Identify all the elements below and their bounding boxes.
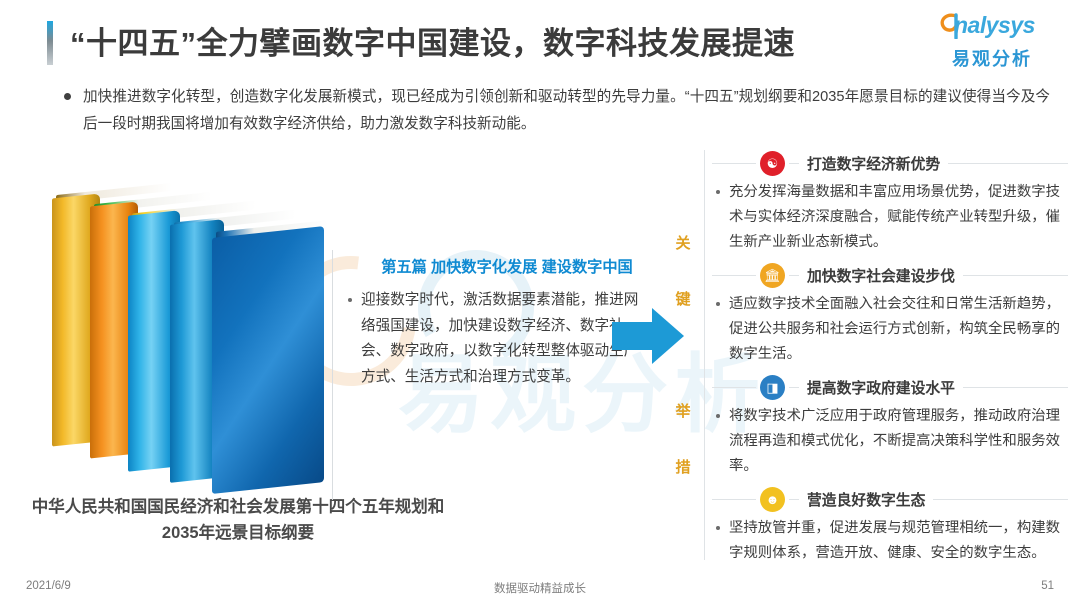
section-rule-mid	[789, 387, 799, 388]
person-icon: ☻	[760, 487, 785, 512]
slide-root: 易观分析 “十四五”全力擘画数字中国建设，数字科技发展提速 nalysys 易观…	[0, 0, 1080, 608]
bullet-dot-icon	[64, 93, 71, 100]
section-header: ☻ 营造良好数字生态	[712, 484, 1068, 514]
section-rule-mid	[789, 499, 799, 500]
section-text: 坚持放管并重，促进发展与规范管理相统一，构建数字规则体系，营造开放、健康、安全的…	[729, 516, 1068, 566]
section-title: 提高数字政府建设水平	[807, 377, 955, 398]
measure-section-3: ◨ 提高数字政府建设水平 将数字技术广泛应用于政府管理服务，推动政府治理流程再造…	[712, 372, 1068, 479]
logo-chinese-name: 易观分析	[938, 45, 1056, 71]
section-text: 充分发挥海量数据和丰富应用场景优势，促进数字技术与实体经济深度融合，赋能传统产业…	[729, 180, 1068, 255]
section-body: 坚持放管并重，促进发展与规范管理相统一，构建数字规则体系，营造开放、健康、安全的…	[712, 516, 1068, 566]
section-rule-right	[948, 163, 1068, 164]
section-rule-right	[933, 499, 1068, 500]
books-caption: 中华人民共和国国民经济和社会发展第十四个五年规划和2035年远景目标纲要	[28, 494, 448, 546]
section-header: 🏛 加快数字社会建设步伐	[712, 260, 1068, 290]
key-measures-list: ☯ 打造数字经济新优势 充分发挥海量数据和丰富应用场景优势，促进数字技术与实体经…	[712, 148, 1068, 571]
section-rule-right	[963, 275, 1068, 276]
section-rule-left	[712, 163, 756, 164]
shield-icon: ◨	[760, 375, 785, 400]
section-rule-left	[712, 387, 756, 388]
section-body: 适应数字技术全面融入社会交往和日常生活新趋势，促进公共服务和社会运行方式创新，构…	[712, 292, 1068, 367]
page-title: “十四五”全力擘画数字中国建设，数字科技发展提速	[70, 18, 795, 63]
section-rule-left	[712, 499, 756, 500]
arrow-shaft	[612, 322, 656, 350]
bank-icon: 🏛	[760, 263, 785, 288]
intro-paragraph: 加快推进数字化转型，创造数字化发展新模式，现已经成为引领创新和驱动转型的先导力量…	[64, 84, 1050, 138]
measure-section-1: ☯ 打造数字经济新优势 充分发挥海量数据和丰富应用场景优势，促进数字技术与实体经…	[712, 148, 1068, 255]
books-illustration	[36, 168, 302, 498]
footer-slogan: 数据驱动精益成长	[0, 580, 1080, 596]
globe-icon: ☯	[760, 151, 785, 176]
vlabel-char-3: 举	[670, 384, 696, 440]
logo-wordmark: nalysys	[954, 12, 1035, 39]
bullet-dot-icon	[716, 190, 720, 194]
bullet-dot-icon	[716, 414, 720, 418]
section-rule-mid	[789, 163, 799, 164]
section-text: 将数字技术广泛应用于政府管理服务，推动政府治理流程再造和模式优化，不断提高决策科…	[729, 404, 1068, 479]
bullet-dot-icon	[716, 526, 720, 530]
right-divider	[704, 150, 705, 560]
vlabel-char-2: 键	[670, 272, 696, 328]
section-rule-right	[963, 387, 1068, 388]
section-rule-mid	[789, 275, 799, 276]
section-body: 将数字技术广泛应用于政府管理服务，推动政府治理流程再造和模式优化，不断提高决策科…	[712, 404, 1068, 479]
middle-divider	[332, 250, 333, 500]
vlabel-char-1: 关	[670, 216, 696, 272]
bullet-dot-icon	[348, 298, 352, 302]
intro-text: 加快推进数字化转型，创造数字化发展新模式，现已经成为引领创新和驱动转型的先导力量…	[83, 84, 1050, 138]
slide-footer: 2021/6/9 数据驱动精益成长 51	[0, 580, 1080, 608]
section-title: 打造数字经济新优势	[807, 153, 940, 174]
analysys-logo: nalysys 易观分析	[938, 13, 1056, 65]
measure-section-2: 🏛 加快数字社会建设步伐 适应数字技术全面融入社会交往和日常生活新趋势，促进公共…	[712, 260, 1068, 367]
section-rule-left	[712, 275, 756, 276]
section-title: 营造良好数字生态	[807, 489, 925, 510]
middle-text: 迎接数字时代，激活数据要素潜能，推进网络强国建设，加快建设数字经济、数字社会、数…	[361, 288, 648, 390]
section-header: ☯ 打造数字经济新优势	[712, 148, 1068, 178]
middle-title: 第五篇 加快数字化发展 建设数字中国	[352, 255, 662, 277]
middle-paragraph: 迎接数字时代，激活数据要素潜能，推进网络强国建设，加快建设数字经济、数字社会、数…	[348, 288, 648, 390]
vlabel-char-4: 措	[670, 440, 696, 496]
section-body: 充分发挥海量数据和丰富应用场景优势，促进数字技术与实体经济深度融合，赋能传统产业…	[712, 180, 1068, 255]
vertical-label-key-measures: 关 键 举 措	[670, 216, 696, 496]
book-5	[212, 226, 324, 494]
logo-wordmark-row: nalysys	[938, 13, 1056, 41]
title-accent-bar	[47, 21, 53, 65]
measure-section-4: ☻ 营造良好数字生态 坚持放管并重，促进发展与规范管理相统一，构建数字规则体系，…	[712, 484, 1068, 566]
section-text: 适应数字技术全面融入社会交往和日常生活新趋势，促进公共服务和社会运行方式创新，构…	[729, 292, 1068, 367]
section-title: 加快数字社会建设步伐	[807, 265, 955, 286]
bullet-dot-icon	[716, 302, 720, 306]
footer-page-number: 51	[1041, 580, 1054, 592]
section-header: ◨ 提高数字政府建设水平	[712, 372, 1068, 402]
